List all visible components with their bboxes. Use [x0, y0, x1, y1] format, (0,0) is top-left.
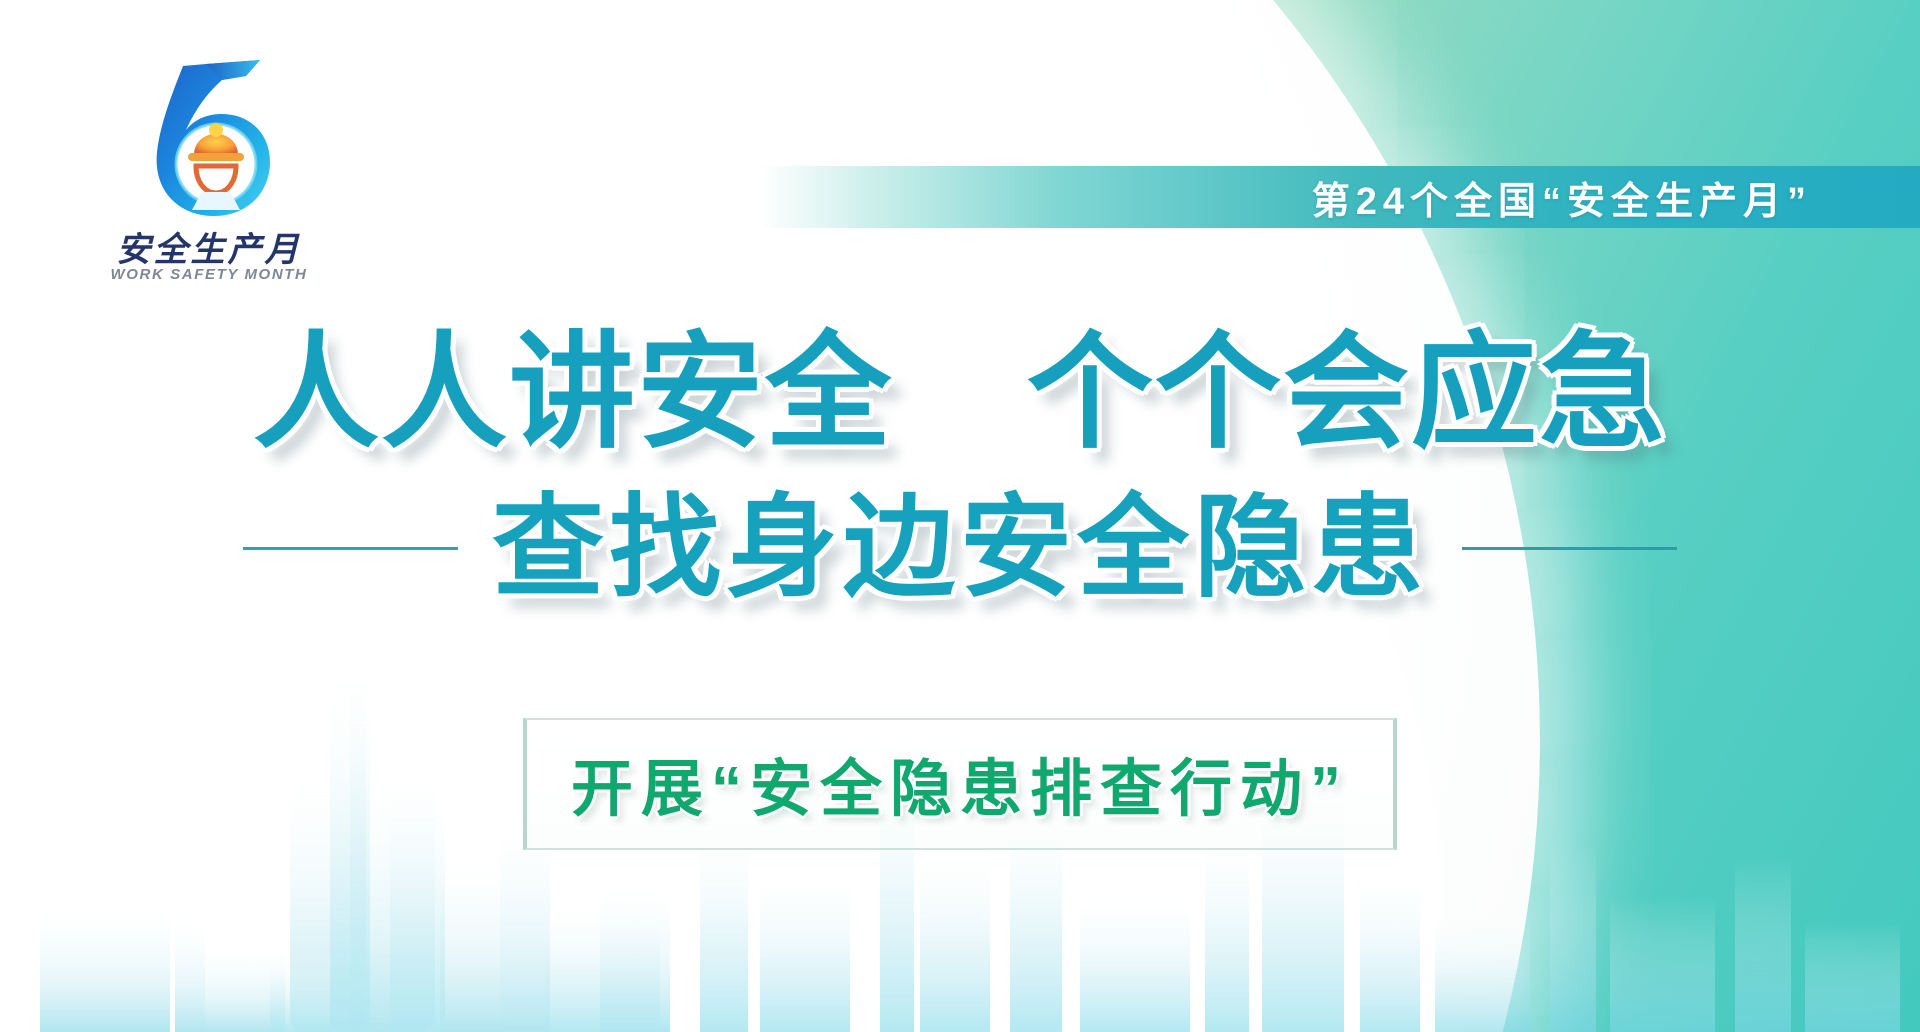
headline-rule-right [1462, 547, 1677, 550]
headline-line-1: 人人讲安全 个个会应急 [0, 330, 1920, 456]
banner-strip: 第24个全国“安全生产月” [760, 166, 1920, 228]
subtitle-text: 开展“安全隐患排查行动” [571, 755, 1349, 824]
headline-line-2-row: 查找身边安全隐患 [0, 492, 1920, 604]
logo-chinese-name: 安全生产月 [84, 222, 334, 271]
safety-month-six-logo-icon [110, 52, 300, 227]
subtitle-box: 开展“安全隐患排查行动” [523, 718, 1397, 850]
headline-line-1-part-a: 人人讲安全 [253, 322, 893, 463]
safety-month-logo: 安全生产月 WORK SAFETY MONTH [84, 52, 334, 302]
banner-title: 第24个全国“安全生产月” [1312, 170, 1812, 225]
headline-rule-left [243, 547, 458, 550]
logo-english-name: WORK SAFETY MONTH [84, 266, 334, 283]
headline-line-2: 查找身边安全隐患 [492, 492, 1428, 604]
safety-month-poster: 第24个全国“安全生产月” [0, 0, 1920, 1032]
headline-block: 人人讲安全 个个会应急 查找身边安全隐患 [0, 330, 1920, 604]
headline-line-1-part-b: 个个会应急 [1027, 322, 1667, 463]
subtitle-wrap: 开展“安全隐患排查行动” [0, 718, 1920, 850]
